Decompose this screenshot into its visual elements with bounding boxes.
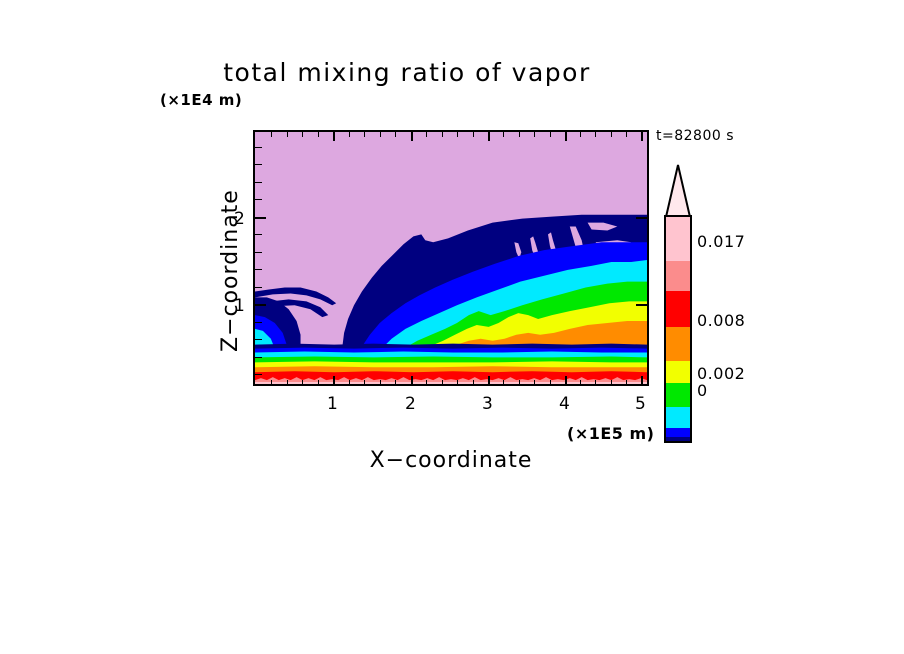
x-tick-major <box>565 376 567 386</box>
time-annotation: t=82800 s <box>656 128 734 144</box>
y-tick-minor <box>255 339 262 340</box>
x-tick-minor <box>271 380 272 386</box>
x-tick-minor <box>457 380 458 386</box>
colorbar-segment <box>666 428 690 437</box>
x-tick-label-2: 2 <box>405 394 416 414</box>
x-tick-minor-top <box>364 131 365 137</box>
x-tick-minor <box>426 380 427 386</box>
colorbar-segment <box>666 291 690 327</box>
y-tick-label-1: 1 <box>234 296 245 316</box>
colorbar-segment <box>666 441 690 443</box>
y-tick-minor <box>255 287 262 288</box>
y-tick-minor <box>255 357 262 358</box>
y-tick-minor <box>255 252 262 253</box>
colorbar-segment <box>666 407 690 428</box>
x-tick-major <box>641 376 643 386</box>
x-axis-unit-label: (×1E5 m) <box>567 424 654 443</box>
x-tick-minor-top <box>611 131 612 137</box>
y-tick-minor <box>255 147 262 148</box>
x-tick-minor <box>302 380 303 386</box>
x-tick-minor-top <box>550 131 551 137</box>
colorbar-segment <box>666 327 690 361</box>
x-tick-minor-top <box>626 131 627 137</box>
x-tick-minor <box>503 380 504 386</box>
colorbar-label-0008: 0.008 <box>697 311 745 330</box>
page-title: total mixing ratio of vapor <box>0 58 859 87</box>
x-tick-minor-top <box>426 131 427 137</box>
x-tick-label-4: 4 <box>559 394 570 414</box>
contour-field <box>255 132 647 384</box>
y-tick-minor <box>255 234 262 235</box>
x-tick-minor <box>395 380 396 386</box>
x-tick-minor <box>611 380 612 386</box>
x-tick-minor <box>318 380 319 386</box>
y-tick-major <box>255 217 266 219</box>
x-tick-minor <box>519 380 520 386</box>
x-tick-minor-top <box>457 131 458 137</box>
y-axis-unit-label: (×1E4 m) <box>160 91 242 109</box>
x-tick-major <box>411 376 413 386</box>
x-tick-minor <box>473 380 474 386</box>
y-tick-minor <box>255 269 262 270</box>
contour-plot-area <box>253 130 649 386</box>
x-tick-major <box>333 376 335 386</box>
x-tick-minor-top <box>442 131 443 137</box>
y-tick-major <box>255 304 266 306</box>
x-tick-minor-top <box>580 131 581 137</box>
x-tick-minor-top <box>318 131 319 137</box>
y-tick-label-2: 2 <box>234 209 245 229</box>
x-tick-minor <box>534 380 535 386</box>
colorbar-gradient <box>664 215 692 443</box>
x-tick-minor-top <box>302 131 303 137</box>
colorbar-segment <box>666 383 690 407</box>
x-tick-minor-top <box>287 131 288 137</box>
x-tick-label-1: 1 <box>327 394 338 414</box>
colorbar-segment <box>666 361 690 383</box>
x-tick-minor <box>595 380 596 386</box>
x-tick-minor-top <box>519 131 520 137</box>
x-tick-minor <box>380 380 381 386</box>
y-tick-minor <box>255 199 262 200</box>
x-tick-major-top <box>488 131 490 141</box>
y-tick-minor <box>255 322 262 323</box>
colorbar-label-0: 0 <box>697 381 708 400</box>
x-tick-major-top <box>411 131 413 141</box>
y-tick-major-right <box>636 217 647 219</box>
y-tick-minor <box>255 164 262 165</box>
x-tick-minor-top <box>395 131 396 137</box>
colorbar-segment <box>666 261 690 291</box>
colorbar-extend-arrow-icon <box>664 163 692 219</box>
x-tick-minor <box>287 380 288 386</box>
x-tick-minor <box>349 380 350 386</box>
x-tick-minor-top <box>380 131 381 137</box>
x-tick-minor <box>626 380 627 386</box>
x-tick-minor-top <box>473 131 474 137</box>
x-tick-minor <box>442 380 443 386</box>
x-tick-label-5: 5 <box>635 394 646 414</box>
colorbar-segment <box>666 217 690 261</box>
x-tick-label-3: 3 <box>482 394 493 414</box>
figure-canvas: total mixing ratio of vapor (×1E4 m) t=8… <box>0 0 904 654</box>
x-tick-minor-top <box>271 131 272 137</box>
x-tick-major-top <box>333 131 335 141</box>
x-axis-title: X−coordinate <box>253 448 649 473</box>
x-tick-major-top <box>565 131 567 141</box>
x-tick-minor-top <box>534 131 535 137</box>
x-tick-minor-top <box>349 131 350 137</box>
y-tick-minor <box>255 374 262 375</box>
x-tick-minor <box>550 380 551 386</box>
colorbar-label-0017: 0.017 <box>697 232 745 251</box>
x-tick-minor-top <box>503 131 504 137</box>
x-tick-minor <box>364 380 365 386</box>
y-tick-minor <box>255 182 262 183</box>
x-tick-minor-top <box>595 131 596 137</box>
x-tick-major <box>488 376 490 386</box>
y-tick-major-right <box>636 304 647 306</box>
x-tick-minor <box>580 380 581 386</box>
x-tick-major-top <box>641 131 643 141</box>
